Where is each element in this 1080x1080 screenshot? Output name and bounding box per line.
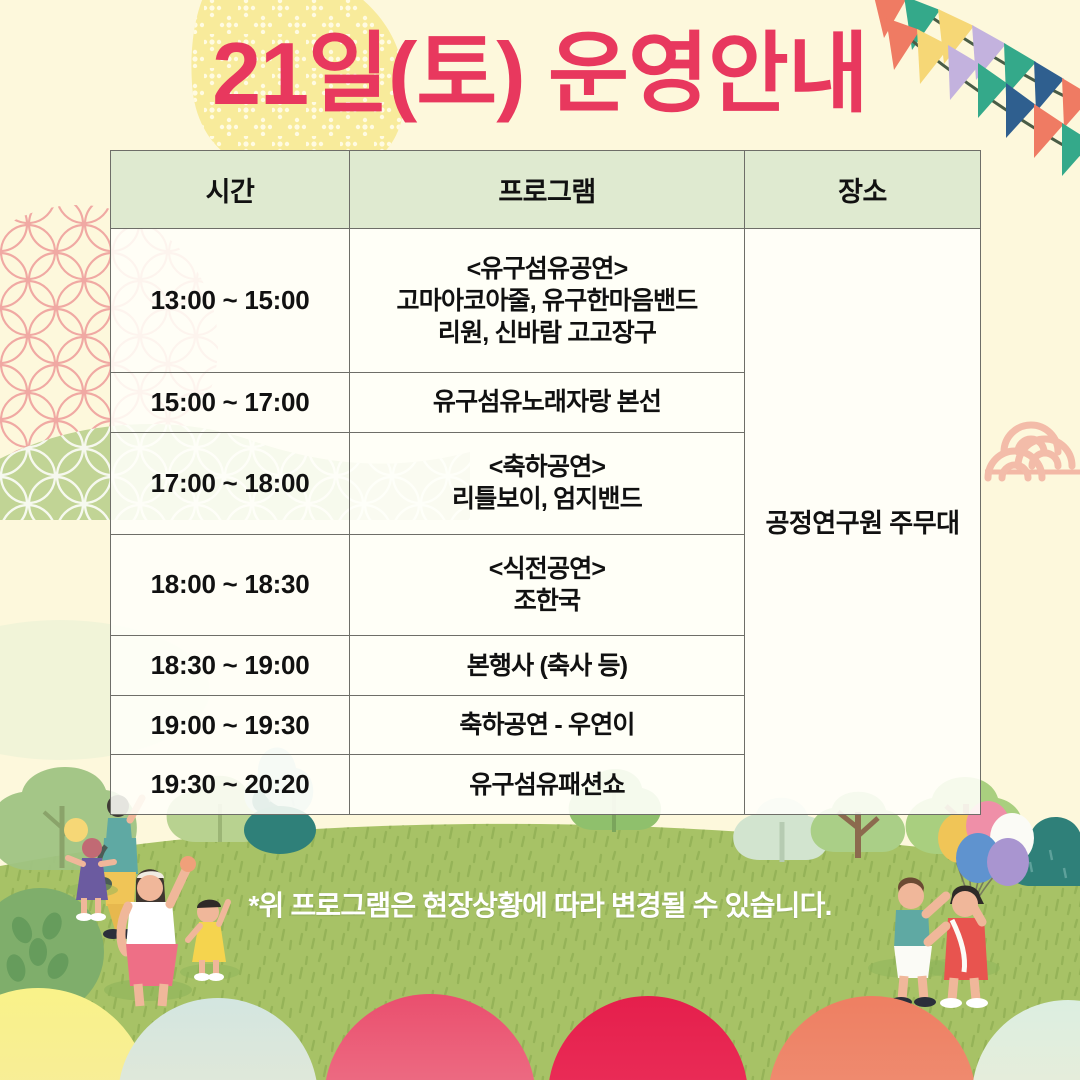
cell-program: <식전공연> 조한국	[350, 534, 745, 636]
cell-program: 유구섬유패션쇼	[350, 755, 745, 815]
column-header-program: 프로그램	[350, 151, 745, 229]
program-line: 리원, 신바람 고고장구	[354, 317, 740, 349]
cell-time: 18:00 ~ 18:30	[111, 534, 350, 636]
cell-program: 축하공연 - 우연이	[350, 695, 745, 755]
schedule-table: 시간 프로그램 장소 13:00 ~ 15:00 <유구섬유공연> 고마아코아줄…	[110, 150, 981, 815]
cell-time: 19:30 ~ 20:20	[111, 755, 350, 815]
program-line: 유구섬유패션쇼	[354, 769, 740, 801]
table-row: 13:00 ~ 15:00 <유구섬유공연> 고마아코아줄, 유구한마음밴드 리…	[111, 229, 981, 373]
cell-time: 15:00 ~ 17:00	[111, 373, 350, 433]
table-header-row: 시간 프로그램 장소	[111, 151, 981, 229]
footer-note: *위 프로그램은 현장상황에 따라 변경될 수 있습니다.	[0, 884, 1080, 924]
schedule-table-head: 시간 프로그램 장소	[111, 151, 981, 229]
cell-program: 유구섬유노래자랑 본선	[350, 373, 745, 433]
program-line: 조한국	[354, 585, 740, 617]
cell-time: 19:00 ~ 19:30	[111, 695, 350, 755]
program-line: 고마아코아줄, 유구한마음밴드	[354, 285, 740, 317]
program-line: 리틀보이, 엄지밴드	[354, 483, 740, 515]
column-header-place: 장소	[745, 151, 981, 229]
cell-time: 13:00 ~ 15:00	[111, 229, 350, 373]
cell-time: 17:00 ~ 18:00	[111, 432, 350, 534]
program-line: <축하공연>	[354, 451, 740, 483]
cell-time: 18:30 ~ 19:00	[111, 636, 350, 696]
cell-program: 본행사 (축사 등)	[350, 636, 745, 696]
cell-place-merged: 공정연구원 주무대	[745, 229, 981, 815]
program-line: 축하공연 - 우연이	[354, 709, 740, 741]
page-title: 21일(토) 운영안내	[212, 28, 868, 120]
cell-program: <축하공연> 리틀보이, 엄지밴드	[350, 432, 745, 534]
column-header-time: 시간	[111, 151, 350, 229]
poster-root: 21일(토) 운영안내 시간 프로그램 장소 13:00 ~ 15:00 <유구…	[0, 0, 1080, 1080]
program-line: 본행사 (축사 등)	[354, 650, 740, 682]
title-container: 21일(토) 운영안내	[0, 28, 1080, 120]
program-line: <식전공연>	[354, 553, 740, 585]
program-line: 유구섬유노래자랑 본선	[354, 386, 740, 418]
schedule-table-body: 13:00 ~ 15:00 <유구섬유공연> 고마아코아줄, 유구한마음밴드 리…	[111, 229, 981, 815]
program-line: <유구섬유공연>	[354, 253, 740, 285]
cell-program: <유구섬유공연> 고마아코아줄, 유구한마음밴드 리원, 신바람 고고장구	[350, 229, 745, 373]
